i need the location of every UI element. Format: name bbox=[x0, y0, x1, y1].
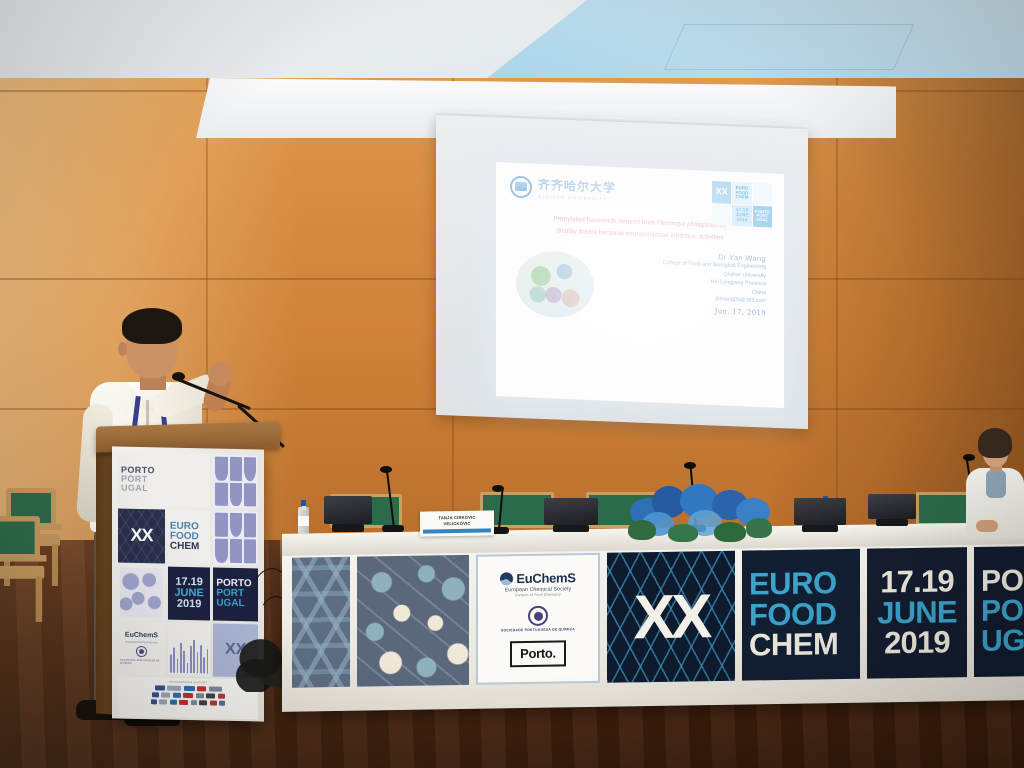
name-placard: TANJA CIRKOVIC VELICKOVIC bbox=[420, 510, 494, 536]
podium-sponsor-logo bbox=[170, 700, 177, 705]
podium-lab-icons bbox=[213, 455, 258, 509]
podium-sponsor-logo bbox=[183, 693, 193, 698]
podium-porto-3: UGAL bbox=[121, 484, 210, 495]
podium-bar bbox=[180, 643, 182, 673]
podium-sponsor-logo bbox=[151, 699, 157, 704]
podium-sponsor-logo bbox=[199, 700, 207, 705]
podium-sponsor-logo bbox=[184, 686, 195, 691]
logo-euro-food-chem: EURO FOOD CHEM bbox=[732, 182, 751, 204]
confidence-monitor-1[interactable] bbox=[324, 496, 372, 532]
speaker-hand bbox=[208, 362, 232, 386]
podium-date-tile: 17.19 JUNE 2019 bbox=[168, 566, 210, 620]
slide-illustration bbox=[516, 250, 594, 319]
slide-title-part2: display potent bacterial neuraminidase i… bbox=[556, 228, 724, 242]
podium-date-year: 2019 bbox=[177, 598, 201, 610]
podium-bar bbox=[200, 645, 202, 673]
euchems-logo: EuChemS bbox=[500, 570, 575, 586]
banner-euro: EURO bbox=[749, 568, 860, 600]
banner-xx-text: XX bbox=[634, 581, 709, 653]
banner-molecule-pattern bbox=[357, 555, 469, 687]
podium-bar bbox=[170, 655, 172, 673]
green-chair-left-2 bbox=[0, 516, 46, 620]
logo-dots-pattern bbox=[753, 183, 772, 205]
wall-vseam-3 bbox=[836, 78, 838, 548]
banner-hexagon-pattern bbox=[292, 557, 350, 688]
logo-dots-pattern-2 bbox=[712, 204, 731, 226]
banner-chem: CHEM bbox=[749, 629, 860, 661]
logo-chem: CHEM bbox=[736, 195, 749, 200]
water-bottle-1 bbox=[298, 500, 309, 534]
banner-euro-food-chem: EURO FOOD CHEM bbox=[742, 549, 860, 681]
banner-porto-2: PORT bbox=[981, 596, 1024, 627]
podium-sponsor-logo bbox=[173, 693, 181, 698]
podium-euro-food-chem: EURO FOOD CHEM bbox=[168, 510, 210, 564]
ceiling-panel-seam bbox=[664, 24, 914, 70]
podium-sponsor-logo bbox=[179, 700, 188, 705]
podium-bar bbox=[187, 663, 189, 673]
podium-xx-text: XX bbox=[130, 525, 152, 546]
podium-bar bbox=[207, 650, 209, 674]
podium-bar bbox=[190, 646, 192, 673]
university-name-chinese: 齐齐哈尔大学 bbox=[538, 176, 616, 196]
euchems-mark-icon bbox=[500, 572, 513, 585]
podium-bar-chart bbox=[168, 622, 210, 676]
spq-logo-mark-icon bbox=[528, 606, 548, 626]
podium-sponsor-logo bbox=[196, 693, 204, 698]
confidence-monitor-2[interactable] bbox=[544, 498, 598, 532]
podium-molecule-tile bbox=[118, 565, 165, 619]
podium-bar bbox=[193, 640, 195, 673]
lecture-hall-scene: 齐齐哈尔大学 QIQIHAR UNIVERSITY XX EURO FOOD C… bbox=[0, 0, 1024, 768]
podium-sponsor-logo bbox=[206, 693, 215, 698]
table-microphone-1[interactable] bbox=[382, 468, 404, 528]
podium-sponsor-logo bbox=[218, 694, 225, 699]
equipment-case bbox=[868, 494, 916, 526]
floral-arrangement bbox=[628, 476, 776, 538]
placard-name-line1: TANJA CIRKOVIC bbox=[438, 514, 475, 520]
euchems-wordmark: EuChemS bbox=[516, 570, 575, 586]
logo-porto-line3: UGAL bbox=[756, 218, 768, 223]
logo-date-year: 2019 bbox=[736, 218, 747, 223]
podium-bar bbox=[203, 657, 205, 673]
banner-date-year: 2019 bbox=[884, 628, 950, 660]
logo-date: 17.19 JUNE 2019 bbox=[732, 204, 751, 226]
logo-porto: PORTO PORT UGAL bbox=[753, 205, 772, 227]
podium-sponsor-logo bbox=[161, 692, 170, 697]
podium-euchems-sub: European Chemical Society bbox=[125, 641, 157, 645]
podium-society-logos: EuChemS European Chemical Society SOCIED… bbox=[118, 621, 165, 675]
podium-sponsor-logo bbox=[159, 699, 167, 704]
podium-sponsor-logo bbox=[210, 700, 217, 705]
banner-porto-3: UGAL bbox=[981, 625, 1024, 656]
slide-author-block: Dr Yan Wang College of Food and Biologic… bbox=[594, 247, 770, 317]
podium-sponsor-row bbox=[120, 699, 256, 707]
podium-xx-tile: XX bbox=[118, 509, 165, 563]
podium-porto-grey: PORTO PORT UGAL bbox=[118, 453, 210, 508]
porto-city-text: Porto. bbox=[520, 646, 556, 662]
confidence-monitor-3[interactable] bbox=[794, 498, 846, 532]
podium-bar bbox=[173, 648, 175, 673]
placard-accent-bar bbox=[423, 528, 491, 533]
banner-date-tile: 17.19 JUNE 2019 bbox=[867, 547, 967, 679]
presentation-slide: 齐齐哈尔大学 QIQIHAR UNIVERSITY XX EURO FOOD C… bbox=[496, 162, 784, 408]
porto-city-logo: Porto. bbox=[510, 640, 566, 667]
banner-society-logos: EuChemS European Chemical Society Divisi… bbox=[476, 553, 600, 685]
podium-bar bbox=[183, 651, 185, 673]
slide-title-part1: Prenylated flavonoids derived from bbox=[553, 215, 656, 226]
spq-logo-icon bbox=[136, 646, 147, 657]
podium-euchems-name: EuChemS bbox=[125, 632, 158, 640]
seated-chairperson bbox=[962, 428, 1024, 540]
podium-bar bbox=[177, 659, 179, 673]
podium-sponsor-logo bbox=[219, 701, 225, 706]
conference-logo-icon: XX EURO FOOD CHEM 17.19 JUNE 2019 PORTO … bbox=[712, 181, 772, 228]
table-banner: EuChemS European Chemical Society Divisi… bbox=[292, 546, 1018, 687]
podium-sponsor-logo bbox=[167, 686, 181, 691]
banner-xx-tile: XX bbox=[607, 551, 735, 683]
slide-date: Jun. 17, 2019 bbox=[594, 302, 766, 317]
podium-sponsor-logo bbox=[197, 686, 206, 691]
banner-porto-1: PORTO bbox=[981, 566, 1024, 597]
logo-xx: XX bbox=[712, 181, 731, 203]
podium-lab-icons-2 bbox=[213, 511, 258, 565]
banner-porto-tile: PORTO PORT UGAL bbox=[974, 545, 1024, 677]
podium-bar bbox=[197, 652, 199, 673]
podium-chem: CHEM bbox=[170, 541, 210, 552]
podium-sponsor-logo bbox=[209, 686, 222, 691]
podium-sponsor-logo bbox=[155, 685, 165, 690]
podium-sponsor-logo bbox=[191, 700, 197, 705]
podium-spq-text: SOCIEDADE PORTUGUESA DE QUÍMICA bbox=[120, 658, 163, 665]
university-seal-icon bbox=[510, 175, 532, 198]
podium-sponsor-logo bbox=[152, 692, 159, 697]
banner-date-day: 17.19 bbox=[880, 566, 954, 598]
placard-name-line2: VELICKOVIC bbox=[443, 520, 470, 525]
spq-caption: SOCIEDADE PORTUGUESA DE QUÍMICA bbox=[501, 627, 575, 632]
euchems-division: Division of Food Chemistry bbox=[515, 592, 561, 597]
